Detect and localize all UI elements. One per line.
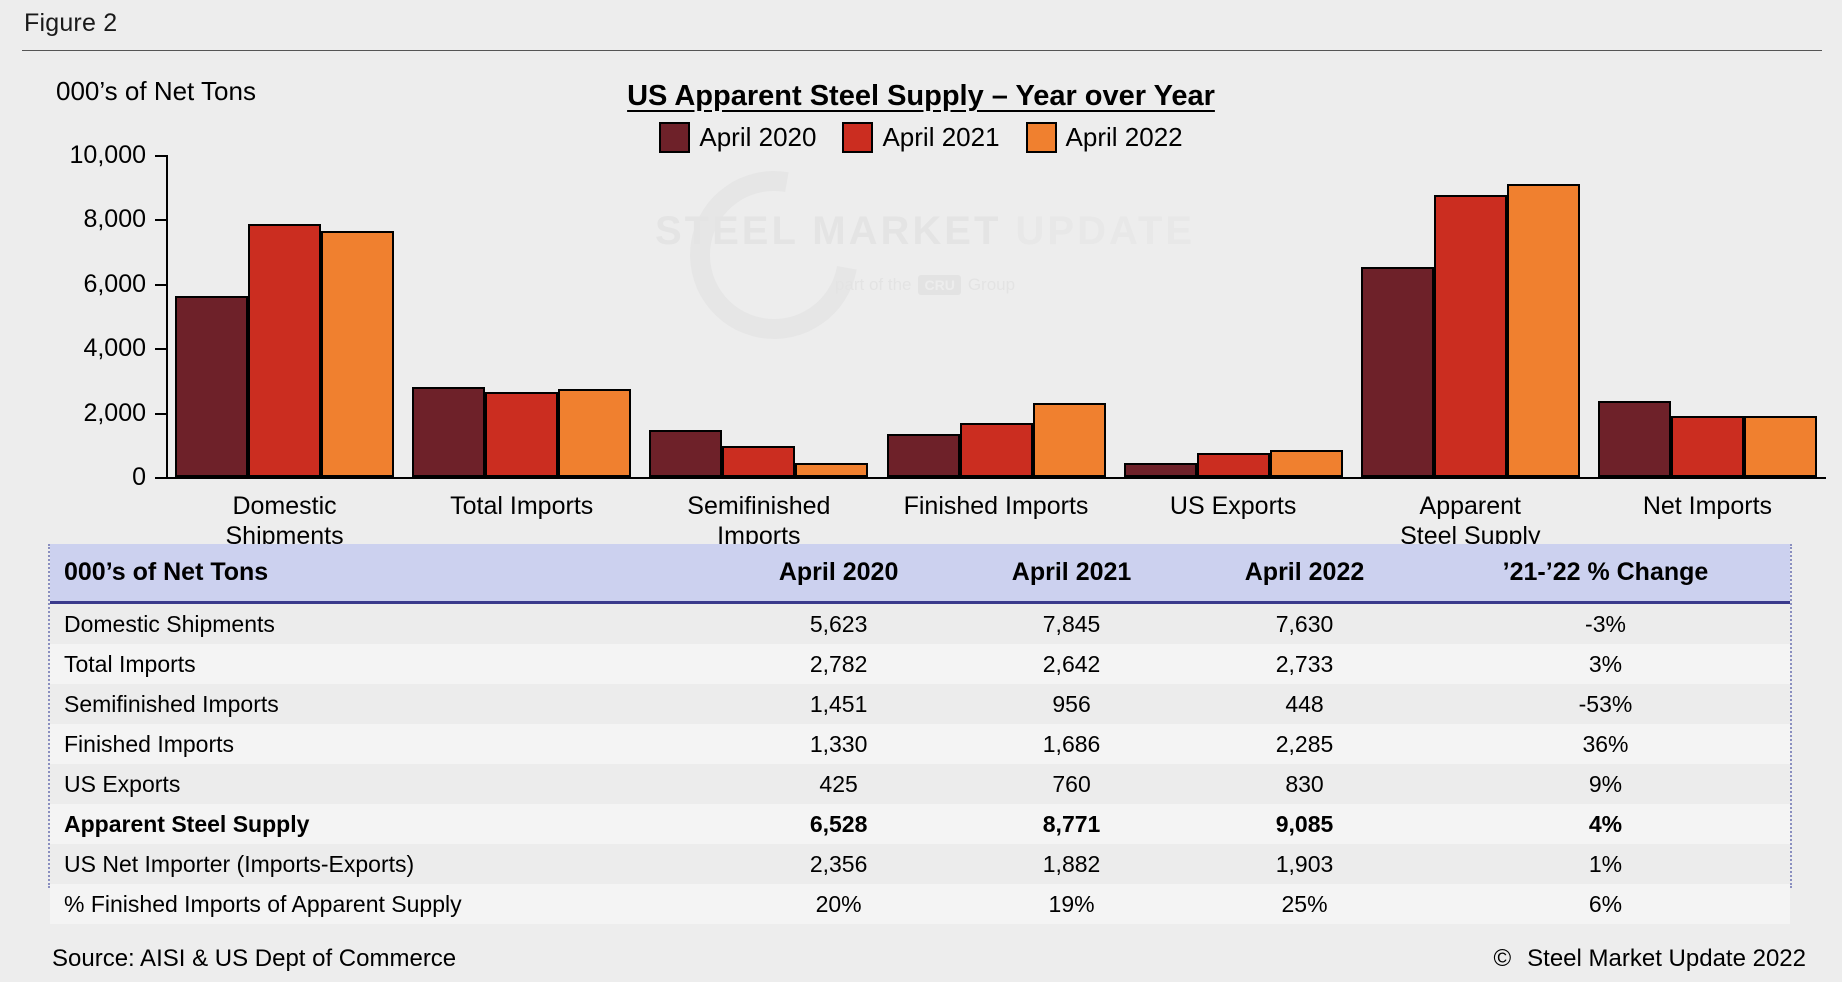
- table-row[interactable]: Total Imports2,7822,6422,7333%: [50, 644, 1790, 684]
- table-cell-label: % Finished Imports of Apparent Supply: [50, 884, 722, 924]
- x-axis-line: [166, 477, 1826, 479]
- y-axis-tick: [155, 219, 166, 221]
- table-cell-v2022: 830: [1188, 764, 1421, 804]
- table-column-header[interactable]: April 2020: [722, 544, 955, 603]
- copyright-icon: ©: [1493, 945, 1511, 973]
- legend-label: April 2022: [1066, 122, 1183, 153]
- bar-group: [1124, 155, 1343, 477]
- table-cell-v2021: 760: [955, 764, 1188, 804]
- chart-area: 000’s of Net Tons US Apparent Steel Supp…: [0, 54, 1842, 524]
- bar[interactable]: [321, 231, 394, 477]
- bar-group: [1361, 155, 1580, 477]
- y-axis-tick-label: 10,000: [16, 141, 146, 170]
- bar[interactable]: [1197, 453, 1270, 477]
- x-axis-category-label: US Exports: [1115, 491, 1352, 521]
- table-cell-label: Domestic Shipments: [50, 603, 722, 645]
- y-axis-tick: [155, 413, 166, 415]
- table-row[interactable]: US Exports4257608309%: [50, 764, 1790, 804]
- x-axis-category-label: Apparent Steel Supply: [1352, 491, 1589, 551]
- table-cell-v2020: 1,451: [722, 684, 955, 724]
- footer-source: Source: AISI & US Dept of Commerce: [52, 945, 456, 973]
- chart-legend: April 2020April 2021April 2022: [0, 122, 1842, 153]
- table-cell-v2021: 7,845: [955, 603, 1188, 645]
- table-cell-v2020: 20%: [722, 884, 955, 924]
- table-cell-change: 6%: [1421, 884, 1790, 924]
- footer-copyright: © Steel Market Update 2022: [1493, 945, 1806, 973]
- table-cell-v2021: 956: [955, 684, 1188, 724]
- table-cell-v2020: 425: [722, 764, 955, 804]
- table-cell-change: -53%: [1421, 684, 1790, 724]
- bar-group: [1598, 155, 1817, 477]
- legend-item-2[interactable]: April 2022: [1026, 122, 1183, 153]
- table-cell-v2022: 7,630: [1188, 603, 1421, 645]
- figure-header: Figure 2: [0, 0, 1842, 54]
- table-cell-label: Finished Imports: [50, 724, 722, 764]
- bar[interactable]: [1598, 401, 1671, 477]
- bar[interactable]: [175, 296, 248, 477]
- bar[interactable]: [795, 463, 868, 477]
- table-row[interactable]: Semifinished Imports1,451956448-53%: [50, 684, 1790, 724]
- legend-swatch-icon: [1026, 122, 1057, 153]
- bar[interactable]: [649, 430, 722, 477]
- bar[interactable]: [1507, 184, 1580, 477]
- y-axis-tick: [155, 155, 166, 157]
- table-cell-change: 36%: [1421, 724, 1790, 764]
- legend-swatch-icon: [842, 122, 873, 153]
- y-axis-tick-label: 2,000: [16, 399, 146, 428]
- table-cell-v2021: 1,686: [955, 724, 1188, 764]
- table-header: 000’s of Net TonsApril 2020April 2021Apr…: [50, 544, 1790, 603]
- table-cell-v2021: 2,642: [955, 644, 1188, 684]
- bar-group: [412, 155, 631, 477]
- table-row[interactable]: % Finished Imports of Apparent Supply20%…: [50, 884, 1790, 924]
- legend-item-1[interactable]: April 2021: [842, 122, 999, 153]
- footer-copyright-text: Steel Market Update 2022: [1527, 945, 1806, 973]
- table-row[interactable]: Apparent Steel Supply6,5288,7719,0854%: [50, 804, 1790, 844]
- bar[interactable]: [960, 423, 1033, 477]
- x-axis-category-label: Net Imports: [1589, 491, 1826, 521]
- table-cell-label: US Exports: [50, 764, 722, 804]
- bar[interactable]: [558, 389, 631, 477]
- table-row[interactable]: US Net Importer (Imports-Exports)2,3561,…: [50, 844, 1790, 884]
- x-axis-category-label: Total Imports: [403, 491, 640, 521]
- table-cell-v2022: 2,285: [1188, 724, 1421, 764]
- x-axis-category-label: Finished Imports: [877, 491, 1114, 521]
- table-column-header[interactable]: April 2022: [1188, 544, 1421, 603]
- table-body: Domestic Shipments5,6237,8457,630-3%Tota…: [50, 603, 1790, 925]
- steel-supply-table: 000’s of Net TonsApril 2020April 2021Apr…: [50, 544, 1790, 924]
- table-row[interactable]: Domestic Shipments5,6237,8457,630-3%: [50, 603, 1790, 645]
- bar-group: [649, 155, 868, 477]
- y-axis-line: [166, 155, 168, 479]
- legend-item-0[interactable]: April 2020: [659, 122, 816, 153]
- table-cell-v2022: 25%: [1188, 884, 1421, 924]
- table-cell-change: -3%: [1421, 603, 1790, 645]
- table-row[interactable]: Finished Imports1,3301,6862,28536%: [50, 724, 1790, 764]
- table-column-header[interactable]: 000’s of Net Tons: [50, 544, 722, 603]
- header-divider: [22, 50, 1822, 51]
- bar[interactable]: [1744, 416, 1817, 477]
- y-axis-tick-label: 8,000: [16, 205, 146, 234]
- table-column-header[interactable]: April 2021: [955, 544, 1188, 603]
- table-cell-v2022: 2,733: [1188, 644, 1421, 684]
- table-cell-v2020: 6,528: [722, 804, 955, 844]
- bar-group: [887, 155, 1106, 477]
- figure-label: Figure 2: [24, 9, 117, 38]
- table-cell-label: Total Imports: [50, 644, 722, 684]
- bar[interactable]: [412, 387, 485, 477]
- bar[interactable]: [887, 434, 960, 477]
- y-axis-tick-label: 6,000: [16, 270, 146, 299]
- table-cell-change: 9%: [1421, 764, 1790, 804]
- table-cell-v2022: 1,903: [1188, 844, 1421, 884]
- table-cell-v2021: 1,882: [955, 844, 1188, 884]
- y-axis-tick-label: 0: [16, 463, 146, 492]
- legend-label: April 2020: [699, 122, 816, 153]
- bar-group: [175, 155, 394, 477]
- bar[interactable]: [1270, 450, 1343, 477]
- table-cell-label: Apparent Steel Supply: [50, 804, 722, 844]
- x-axis-category-label: Semifinished Imports: [640, 491, 877, 551]
- table-cell-v2020: 5,623: [722, 603, 955, 645]
- y-axis-tick: [155, 284, 166, 286]
- table-cell-change: 1%: [1421, 844, 1790, 884]
- table-right-border: [1790, 544, 1794, 888]
- table-cell-label: Semifinished Imports: [50, 684, 722, 724]
- legend-swatch-icon: [659, 122, 690, 153]
- table-cell-v2022: 448: [1188, 684, 1421, 724]
- table-cell-label: US Net Importer (Imports-Exports): [50, 844, 722, 884]
- chart-title: US Apparent Steel Supply – Year over Yea…: [0, 80, 1842, 113]
- bar[interactable]: [1124, 463, 1197, 477]
- y-axis-tick-label: 4,000: [16, 334, 146, 363]
- x-axis-category-label: Domestic Shipments: [166, 491, 403, 551]
- table-cell-v2020: 2,782: [722, 644, 955, 684]
- table-cell-change: 4%: [1421, 804, 1790, 844]
- table-header-row: 000’s of Net TonsApril 2020April 2021Apr…: [50, 544, 1790, 603]
- table-cell-v2021: 19%: [955, 884, 1188, 924]
- plot-region: 02,0004,0006,0008,00010,000Domestic Ship…: [166, 155, 1826, 479]
- legend-label: April 2021: [882, 122, 999, 153]
- bar[interactable]: [1434, 195, 1507, 477]
- bar[interactable]: [485, 392, 558, 477]
- table-cell-v2020: 1,330: [722, 724, 955, 764]
- table-cell-v2022: 9,085: [1188, 804, 1421, 844]
- table-column-header[interactable]: ’21-’22 % Change: [1421, 544, 1790, 603]
- y-axis-tick: [155, 477, 166, 479]
- table-cell-change: 3%: [1421, 644, 1790, 684]
- bar[interactable]: [722, 446, 795, 477]
- bar[interactable]: [1361, 267, 1434, 477]
- table-cell-v2021: 8,771: [955, 804, 1188, 844]
- bar[interactable]: [248, 224, 321, 477]
- table-cell-v2020: 2,356: [722, 844, 955, 884]
- y-axis-tick: [155, 348, 166, 350]
- bar[interactable]: [1033, 403, 1106, 477]
- bar[interactable]: [1671, 416, 1744, 477]
